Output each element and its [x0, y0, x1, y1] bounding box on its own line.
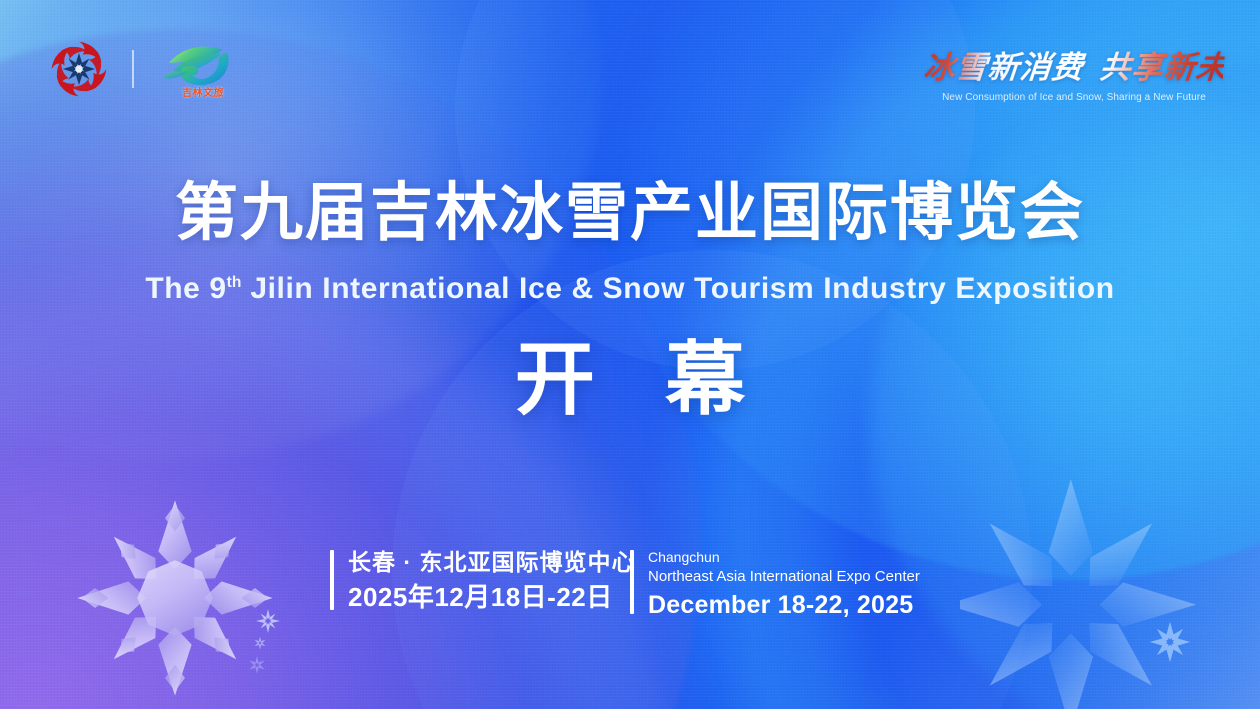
slogan-chinese-part2: 共享新未来: [1098, 50, 1260, 86]
accent-bar: [330, 550, 334, 610]
footer-info: 长春 · 东北亚国际博览中心 2025年12月18日-22日 Changchun…: [0, 548, 1260, 622]
header-logo-row: 吉林文旅: [46, 38, 242, 100]
subtitle-ordinal: th: [227, 274, 242, 291]
subtitle-prefix: The 9: [145, 272, 226, 305]
subtitle-rest: Jilin International Ice & Snow Tourism I…: [241, 272, 1114, 305]
page-title: 第九届吉林冰雪产业国际博览会: [0, 182, 1260, 245]
poster-canvas: 吉林文旅 冰雪新消费共享新未来 New Consumption of Ice a…: [0, 0, 1260, 709]
venue-info-chinese: 长春 · 东北亚国际博览中心 2025年12月18日-22日: [330, 548, 630, 615]
slogan-chinese-part1: 冰雪新消费: [922, 50, 1085, 86]
accent-bar: [630, 550, 634, 614]
event-date-cn: 2025年12月18日-22日: [348, 581, 635, 615]
slogan-chinese: 冰雪新消费共享新未来: [922, 42, 1226, 87]
slogan-block: 冰雪新消费共享新未来 New Consumption of Ice and Sn…: [924, 42, 1224, 103]
partner-logo-label: 吉林文旅: [182, 84, 224, 99]
venue-info-english-lines: Changchun Northeast Asia International E…: [648, 548, 920, 622]
venue-info-chinese-lines: 长春 · 东北亚国际博览中心 2025年12月18日-22日: [348, 548, 635, 615]
expo-pinwheel-snowflake-logo[interactable]: [46, 38, 112, 100]
opening-ceremony-headline: 开 幕: [0, 336, 1260, 424]
vertical-divider: [132, 50, 134, 88]
venue-name-cn: 长春 · 东北亚国际博览中心: [348, 548, 635, 577]
slogan-english: New Consumption of Ice and Snow, Sharing…: [924, 92, 1224, 103]
venue-name-en: Northeast Asia International Expo Center: [648, 567, 920, 587]
city-name-en: Changchun: [648, 548, 920, 567]
jilin-culture-tourism-swoosh-logo[interactable]: 吉林文旅: [154, 38, 242, 100]
venue-info-english: Changchun Northeast Asia International E…: [630, 548, 930, 622]
event-date-en: December 18-22, 2025: [648, 589, 920, 622]
page-subtitle: The 9th Jilin International Ice & Snow T…: [0, 272, 1260, 305]
